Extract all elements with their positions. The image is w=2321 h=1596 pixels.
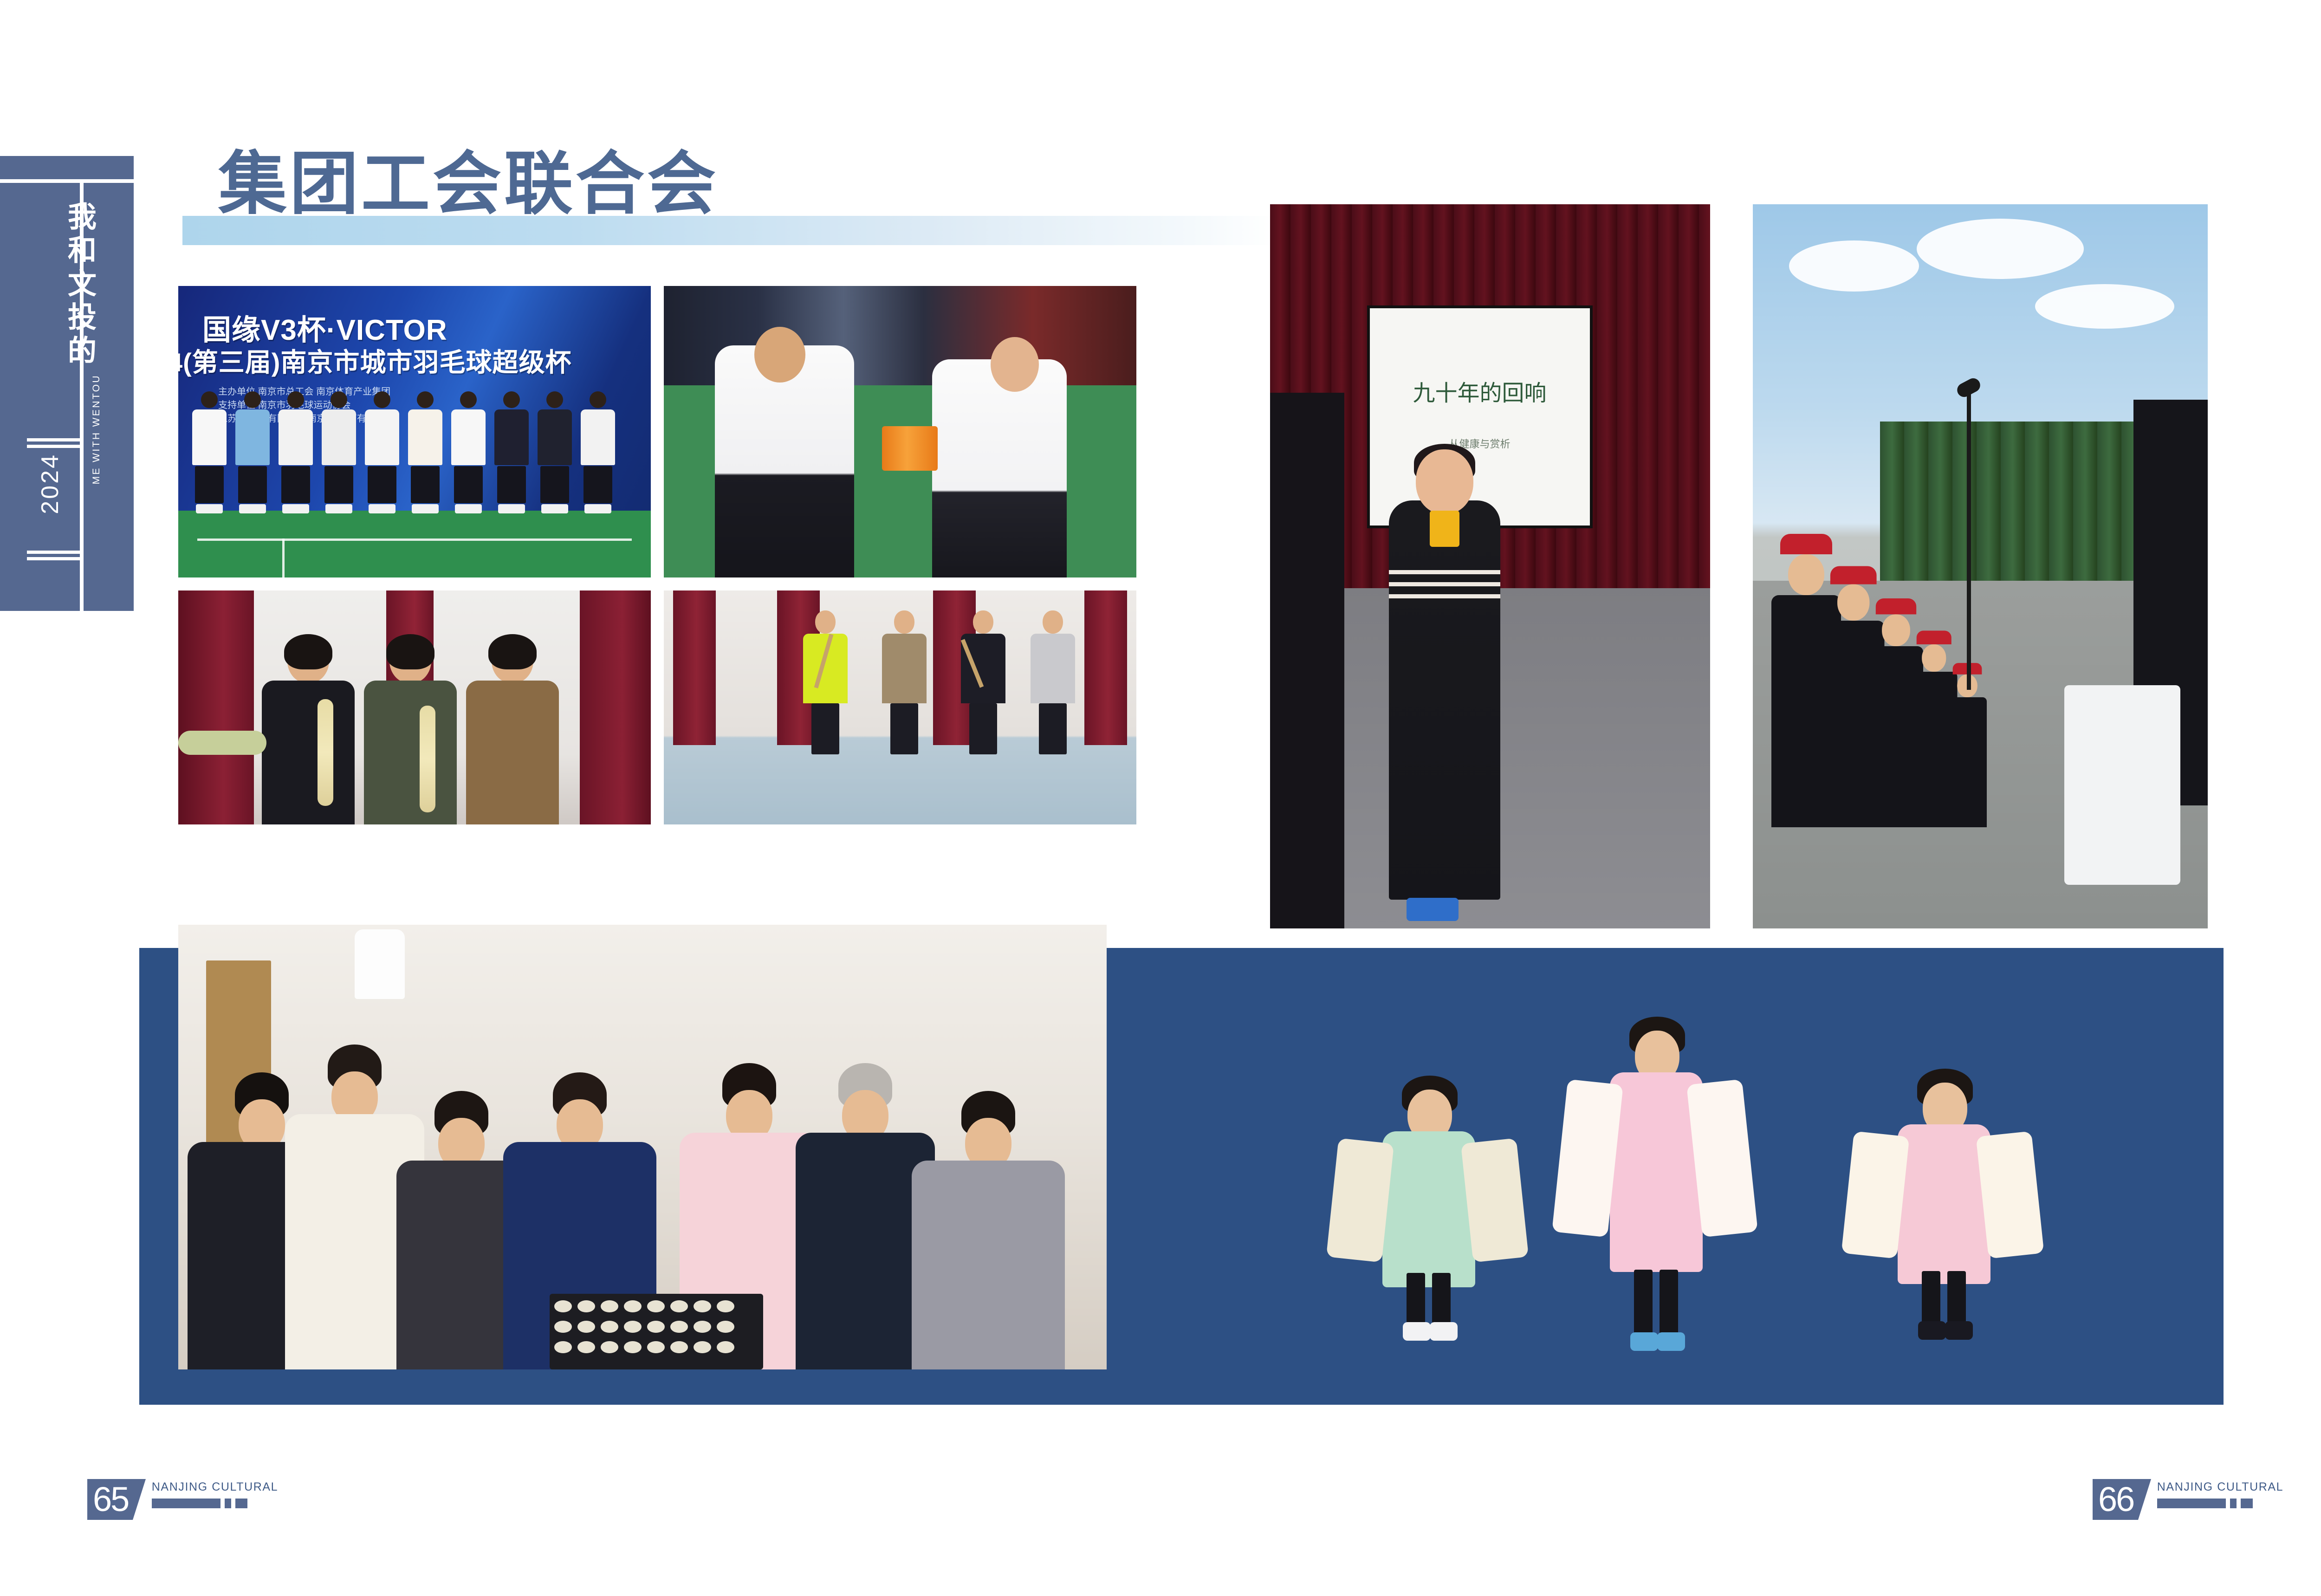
- dumpling: [694, 1341, 711, 1353]
- player-shorts: [454, 466, 483, 503]
- outstretched-arm: [178, 731, 266, 755]
- player-top: [322, 409, 356, 465]
- player-figure: [322, 391, 356, 513]
- speaker-yellow-top: [1430, 511, 1459, 547]
- footer-left: 65 NANJING CULTURAL: [87, 1479, 278, 1535]
- woman-figure: [466, 637, 559, 824]
- badminton-court: [178, 511, 651, 577]
- player-head: [503, 391, 520, 408]
- player-shorts: [324, 466, 353, 503]
- woman-figure: [364, 637, 457, 824]
- dumpling: [624, 1321, 642, 1333]
- dancer-legs: [811, 703, 839, 754]
- bar-medium-icon: [2241, 1499, 2253, 1508]
- performer-shoe-left: [1630, 1332, 1658, 1351]
- dumpling-tray: [550, 1294, 763, 1369]
- player-shorts: [238, 466, 267, 503]
- sidebar-rule-bottom-a: [27, 551, 84, 554]
- player-head: [287, 391, 304, 408]
- player-head: [417, 391, 434, 408]
- player-head: [460, 391, 477, 408]
- dumpling: [624, 1300, 642, 1312]
- dancer-legs: [890, 703, 918, 754]
- stage-curtain-right: [580, 590, 651, 824]
- page-number-right: 66: [2093, 1479, 2138, 1520]
- woman-coat: [466, 681, 559, 824]
- stage-curtain-left: [673, 590, 716, 745]
- chef-hat: [355, 929, 405, 999]
- speaker-body: [1389, 500, 1500, 900]
- participant-torso: [912, 1161, 1065, 1369]
- dancer-top: [803, 634, 848, 703]
- player-figure: [235, 391, 270, 513]
- red-cap: [1830, 566, 1877, 584]
- player-shorts: [583, 466, 612, 503]
- participant-figure: [912, 1091, 1065, 1369]
- footer-left-brand: NANJING CULTURAL: [152, 1479, 278, 1508]
- sidebar-rule-top-b: [27, 445, 84, 448]
- player-shorts: [411, 466, 440, 503]
- dumpling: [670, 1300, 688, 1312]
- player-figure: [365, 391, 399, 513]
- woman-coat: [364, 681, 457, 824]
- performer-leg-left: [1922, 1271, 1940, 1323]
- dumpling: [554, 1341, 572, 1353]
- dumpling: [554, 1321, 572, 1333]
- dumpling: [577, 1300, 595, 1312]
- dumpling: [577, 1321, 595, 1333]
- dumpling: [670, 1341, 688, 1353]
- jacket-stripe-2: [1389, 582, 1500, 586]
- performer-shoe-left: [1918, 1321, 1946, 1340]
- stage-curtain-left: [178, 590, 254, 824]
- left-vertical-sidebar: 我和文投的 2024 ME WITH WENTOU: [0, 156, 134, 611]
- red-cap: [1780, 534, 1832, 554]
- player-shoes: [282, 504, 309, 513]
- dumpling: [694, 1321, 711, 1333]
- woman-hair: [386, 634, 434, 669]
- footer-right-brand: NANJING CULTURAL: [2157, 1479, 2283, 1508]
- player-shorts: [497, 466, 526, 503]
- footer-left-label: NANJING CULTURAL: [152, 1480, 278, 1493]
- performer-shoe-right: [1945, 1321, 1973, 1340]
- sidebar-english-title: ME WITH WENTOU: [91, 374, 102, 484]
- dumpling: [717, 1300, 734, 1312]
- footer-right-label: NANJING CULTURAL: [2157, 1480, 2283, 1493]
- team-row: [192, 350, 641, 513]
- performer-leg-left: [1634, 1270, 1653, 1335]
- player-figure: [279, 391, 313, 513]
- dumpling: [647, 1321, 665, 1333]
- tassel-prop-right: [420, 706, 435, 812]
- singer-head: [1788, 554, 1824, 595]
- bar-medium-icon: [235, 1499, 247, 1508]
- microphone-stand: [1967, 393, 1971, 690]
- woman-figure: [262, 637, 355, 824]
- opera-performer: [1564, 1017, 1750, 1369]
- singer-head: [1922, 644, 1946, 672]
- sidebar-vertical-title: 我和文投的: [39, 201, 95, 443]
- dancer-top: [961, 634, 1005, 703]
- tassel-prop-left: [318, 699, 333, 806]
- sidebar-rule-bottom-b: [27, 557, 84, 560]
- performer-shoe-right: [1657, 1332, 1685, 1351]
- woman-coat: [262, 681, 355, 824]
- dancer-head: [815, 610, 836, 634]
- footer-right-bars: [2157, 1499, 2283, 1508]
- drink-cans: [882, 426, 938, 471]
- player-shoes: [369, 504, 395, 513]
- woman-hair: [488, 634, 537, 669]
- player-shorts: [540, 466, 569, 503]
- dumpling: [647, 1300, 665, 1312]
- opera-performer: [1337, 1076, 1523, 1351]
- player-shoes: [412, 504, 439, 513]
- photo-outdoor-choir: [1753, 204, 2208, 928]
- dumpling: [577, 1341, 595, 1353]
- player-shorts: [281, 466, 310, 503]
- cloud-3: [2035, 284, 2174, 329]
- jacket-stripe-3: [1389, 594, 1500, 598]
- dumpling: [601, 1341, 618, 1353]
- dumpling: [717, 1321, 734, 1333]
- dumpling: [694, 1300, 711, 1312]
- player-head: [244, 391, 261, 408]
- player-figure: [451, 391, 486, 513]
- singer-head: [1882, 614, 1910, 646]
- dancer-figure: [961, 610, 1005, 754]
- performer-leg-right: [1660, 1270, 1678, 1335]
- photo-badminton-pair: [664, 286, 1136, 577]
- dumpling: [647, 1341, 665, 1353]
- player-shoes: [239, 504, 266, 513]
- water-sleeve-right: [1461, 1138, 1529, 1263]
- player-figure: [494, 391, 529, 513]
- player-shoes: [325, 504, 352, 513]
- player-shoes: [584, 504, 611, 513]
- folding-chair: [2064, 685, 2180, 885]
- player-top: [235, 409, 270, 465]
- sidebar-rule-top-a: [27, 438, 84, 441]
- player-figure: [408, 391, 442, 513]
- singer-dress: [1948, 697, 1987, 827]
- dancer-figure: [1031, 610, 1075, 754]
- player-top: [192, 409, 227, 465]
- sidebar-year: 2024: [36, 453, 64, 514]
- performer-leg-left: [1407, 1273, 1425, 1324]
- page-title: 集团工会联合会: [218, 149, 719, 218]
- foreground-woman: [1270, 393, 1344, 928]
- player-head: [546, 391, 563, 408]
- jacket-stripe-1: [1389, 570, 1500, 574]
- footer-right: 66 NANJING CULTURAL: [2093, 1479, 2283, 1535]
- dumpling: [624, 1341, 642, 1353]
- player-head: [331, 391, 347, 408]
- dancer-legs: [969, 703, 997, 754]
- bar-short-icon: [225, 1499, 231, 1508]
- player-head: [590, 391, 606, 408]
- dancer-figure: [803, 610, 848, 754]
- cloud-1: [1789, 240, 1919, 292]
- cloud-2: [1917, 219, 2084, 279]
- projection-screen: 九十年的回响 从健康与赏析: [1367, 305, 1593, 528]
- dancer-head: [894, 610, 914, 634]
- footer-left-bars: [152, 1499, 278, 1508]
- player-top: [408, 409, 442, 465]
- stage-curtain-right: [1084, 590, 1127, 745]
- performer-leg-right: [1432, 1273, 1451, 1324]
- photo-opera-performers: [1304, 993, 2103, 1369]
- bar-long-icon: [152, 1499, 220, 1508]
- photo-dumpling-workshop: [178, 925, 1107, 1369]
- bar-long-icon: [2157, 1499, 2226, 1508]
- performer-robe: [1382, 1131, 1475, 1287]
- photo-badminton-team: 国缘V3杯·VICTOR 4(第三届)南京市城市羽毛球超级杯 主办单位 南京市总…: [178, 286, 651, 577]
- red-cap: [1917, 630, 1951, 644]
- player-shoes: [498, 504, 525, 513]
- performer-robe: [1898, 1124, 1990, 1284]
- player-top: [365, 409, 399, 465]
- player-top: [279, 409, 313, 465]
- performer-shoe-left: [1403, 1322, 1431, 1341]
- player-shorts: [368, 466, 396, 503]
- photo-dance-rehearsal: [664, 590, 1136, 824]
- dancer-top: [1031, 634, 1075, 703]
- photo-stage-lecture: 九十年的回响 从健康与赏析: [1270, 204, 1710, 928]
- dumpling: [601, 1321, 618, 1333]
- dancer-head: [1043, 610, 1063, 634]
- player-figure: [581, 391, 615, 513]
- dumpling: [554, 1300, 572, 1312]
- dancer-figure: [882, 610, 927, 754]
- person-left-head: [754, 327, 805, 383]
- dancer-top: [882, 634, 927, 703]
- player-head: [201, 391, 218, 408]
- embroidered-shoe: [1407, 898, 1459, 921]
- page-number-left: 65: [87, 1479, 133, 1520]
- player-top: [581, 409, 615, 465]
- performer-leg-right: [1947, 1271, 1966, 1323]
- singer-head: [1837, 584, 1869, 620]
- opera-performer: [1852, 1069, 2038, 1351]
- woman-hair: [284, 634, 332, 669]
- player-top: [538, 409, 572, 465]
- dumpling: [717, 1341, 734, 1353]
- dancer-head: [973, 610, 993, 634]
- player-head: [374, 391, 390, 408]
- dumpling: [601, 1300, 618, 1312]
- performer-shoe-right: [1430, 1322, 1458, 1341]
- player-top: [451, 409, 486, 465]
- player-shoes: [541, 504, 568, 513]
- speaker-head: [1416, 449, 1473, 514]
- person-right-body: [932, 359, 1067, 577]
- player-figure: [192, 391, 227, 513]
- player-figure: [538, 391, 572, 513]
- bar-short-icon: [2230, 1499, 2237, 1508]
- player-shorts: [195, 466, 224, 503]
- dancer-legs: [1039, 703, 1067, 754]
- screen-title: 九十年的回响: [1413, 375, 1547, 407]
- player-top: [494, 409, 529, 465]
- sidebar-top-bar: [0, 156, 134, 179]
- person-right-head: [991, 337, 1039, 392]
- dumpling: [670, 1321, 688, 1333]
- player-shoes: [455, 504, 482, 513]
- player-shoes: [196, 504, 223, 513]
- red-cap: [1876, 598, 1916, 614]
- photo-tassel-rehearsal: [178, 590, 651, 824]
